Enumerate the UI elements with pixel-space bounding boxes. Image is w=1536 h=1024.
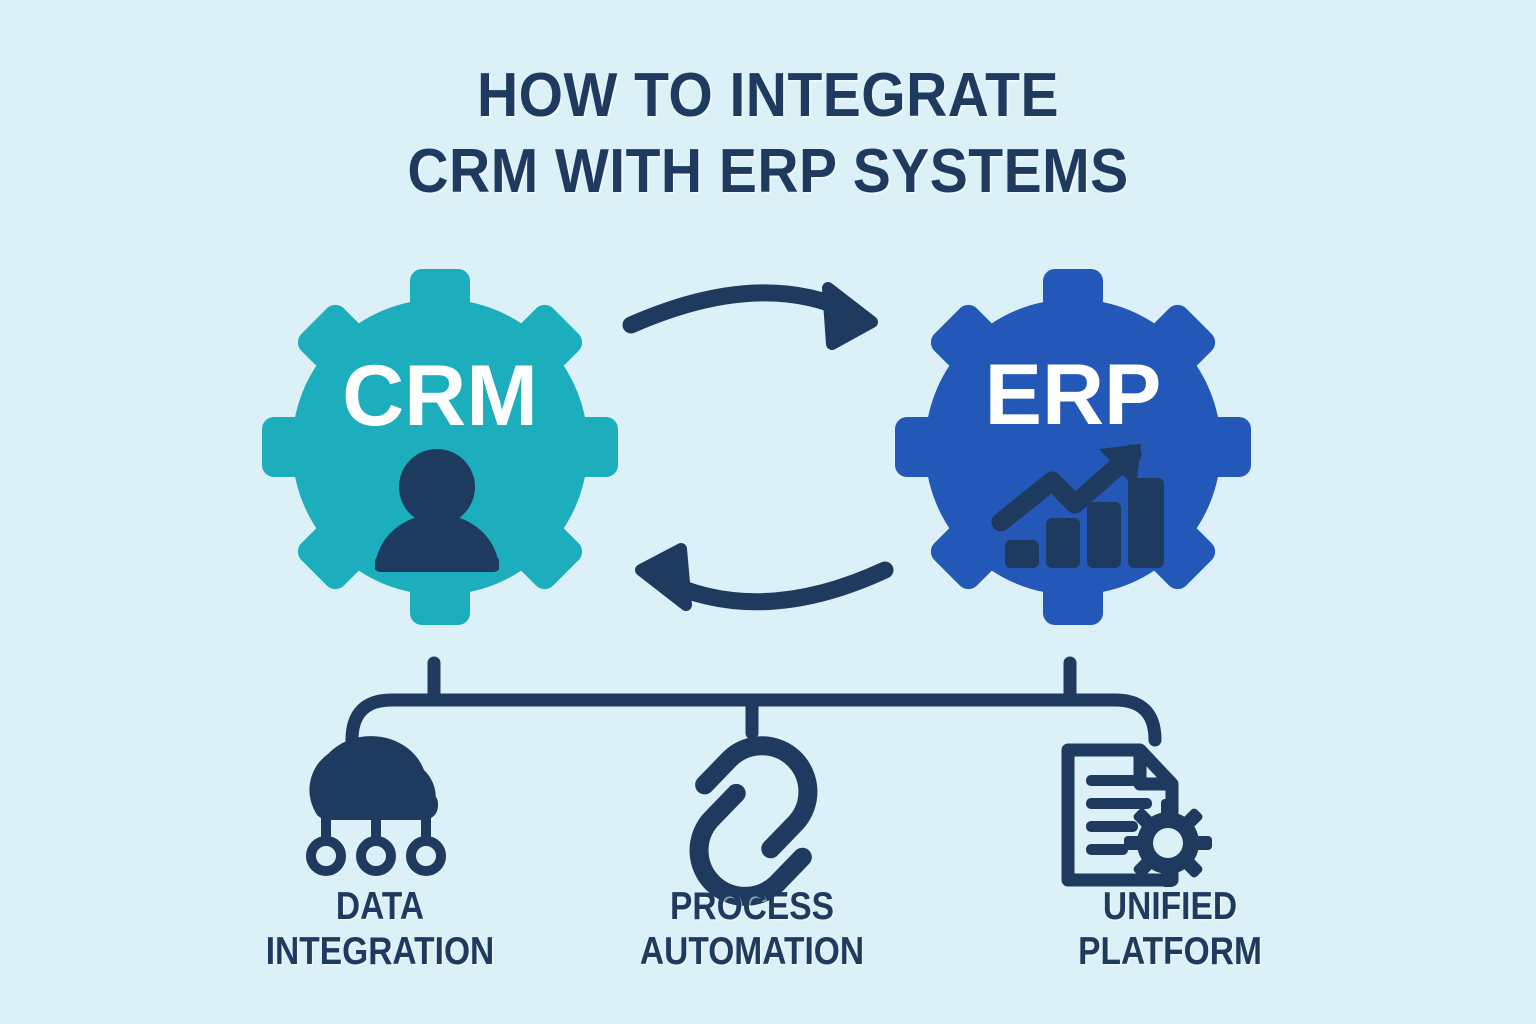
document-gear-icon [1068, 750, 1230, 905]
benefit-label-process-automation: PROCESS AUTOMATION [606, 884, 898, 974]
benefit-label-unified-platform: UNIFIED PLATFORM [1024, 884, 1316, 974]
crm-label: CRM [342, 348, 538, 444]
benefit-label-line-1: PROCESS [606, 884, 898, 929]
crm-gear[interactable]: CRM [188, 195, 691, 698]
infographic-canvas: HOW TO INTEGRATE CRM WITH ERP SYSTEMS [0, 0, 1536, 1024]
diagram-graphics: CRM ERP [0, 0, 1536, 1024]
cloud-nodes-icon [309, 736, 441, 871]
arrow-bottom [641, 549, 885, 605]
benefit-label-line-2: AUTOMATION [606, 929, 898, 974]
chain-link-icon [698, 745, 809, 897]
benefit-label-line-2: INTEGRATION [234, 929, 526, 974]
erp-label: ERP [985, 347, 1162, 443]
arrow-top [631, 288, 872, 344]
erp-gear[interactable]: ERP [821, 195, 1324, 698]
benefit-label-data-integration: DATA INTEGRATION [234, 884, 526, 974]
benefit-label-line-1: UNIFIED [1024, 884, 1316, 929]
benefit-label-line-1: DATA [234, 884, 526, 929]
bracket-connector [352, 663, 1155, 740]
benefit-label-line-2: PLATFORM [1024, 929, 1316, 974]
